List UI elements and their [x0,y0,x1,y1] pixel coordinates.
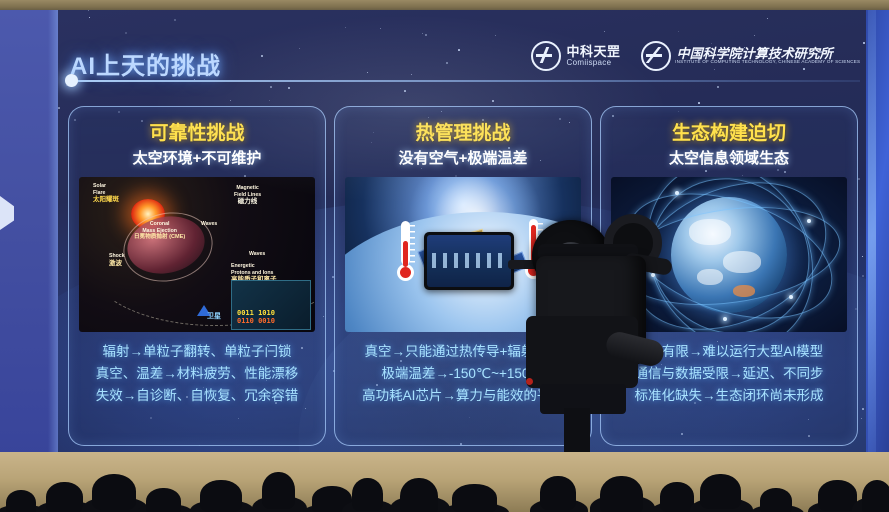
screen-right-band [866,10,889,462]
satellite-dot [807,219,811,223]
logo-comiispace-cn: 中科天罡 [567,45,621,59]
card-thermal-subheading: 没有空气+极端温差 [335,147,591,168]
card-reliability-bullets: 辐射→单粒子翻转、单粒子闩锁 真空、温差→材料疲劳、性能漂移 失效→自诊断、自恢… [75,341,319,407]
logo-group: 中科天罡 Comiispace 中国科学院计算技术研究所 INSTITUTE O… [531,41,858,71]
logo-ict-cn: 中国科学院计算技术研究所 [677,47,858,61]
label-waves-2: Waves [249,251,265,258]
title-divider [70,80,860,82]
card-ecosystem-subheading: 太空信息领域生态 [601,147,857,168]
label-shock: Shock 激波 [109,253,125,268]
label-magnetic-field-lines: Magnetic Field Lines 磁力线 [234,185,261,206]
chip-bitflip-inset: 0011 1010 0110 0010 [231,280,311,330]
audience-head [352,478,383,511]
satellite-dot [723,317,727,321]
audience-head [700,474,741,509]
screen-left-band [0,10,58,462]
slide-title: AI上天的挑战 [70,46,221,81]
audience-head [540,476,576,510]
right-band-glow [868,10,876,462]
title-bullet-dot-icon [65,74,78,87]
audience-head [92,474,136,510]
conference-room-photo: AI上天的挑战 中科天罡 Comiispace 中国科学院计算技术研究所 INS… [0,0,889,512]
audience-head [146,488,181,512]
logo-comiispace-en: Comiispace [567,59,621,67]
audience-head [862,480,889,512]
card-ecosystem-heading: 生态构建迫切 [601,118,857,145]
solar-flare-diagram: Solar Flare 太阳耀斑 Magnetic Field Lines 磁力… [79,177,315,332]
card-reliability-heading: 可靠性挑战 [69,118,325,145]
audience-head [760,488,792,512]
comiispace-logo-icon [531,41,561,71]
satellite-dot [789,295,793,299]
ict-logo-icon [641,41,671,71]
bullet: 辐射→单粒子翻转、单粒子闩锁 [75,341,319,363]
audience-head [818,480,857,511]
audience-head [6,490,36,512]
partial-edge-logo-icon [0,196,14,230]
logo-comiispace: 中科天罡 Comiispace [531,41,621,71]
audience-silhouettes [0,448,889,512]
label-coronal-mass-ejection: Coronal Mass Ejection 日冕物质抛射 (CME) [134,221,185,241]
audience-head [200,480,242,512]
camera-record-led [526,378,533,385]
label-waves-1: Waves [201,221,217,228]
label-satellite: 卫星 [207,313,221,322]
audience-head [400,478,438,512]
audience-head [452,484,497,512]
bullet: 真空、温差→材料疲劳、性能漂移 [75,363,319,385]
bullet: 失效→自诊断、自恢复、冗余容错 [75,385,319,407]
label-solar-flare: Solar Flare 太阳耀斑 [93,183,119,204]
audience-head [262,472,295,509]
camera-lcd-monitor [424,232,514,290]
card-reliability: 可靠性挑战 太空环境+不可维护 Solar Flare 太阳耀斑 Magneti… [68,106,326,446]
thermometer-cold-icon [397,221,414,281]
audience-head [600,476,643,512]
card-reliability-subheading: 太空环境+不可维护 [69,147,325,168]
audience-head [46,482,83,512]
left-band-sheen [48,10,58,462]
logo-ict-en: INSTITUTE OF COMPUTING TECHNOLOGY, CHINE… [675,60,860,65]
bit-string-2: 0110 0010 [237,318,275,326]
logo-ict-cas: 中国科学院计算技术研究所 INSTITUTE OF COMPUTING TECH… [641,41,858,71]
card-thermal-heading: 热管理挑战 [335,118,591,145]
audience-head [660,482,694,512]
satellite-dot [675,191,679,195]
